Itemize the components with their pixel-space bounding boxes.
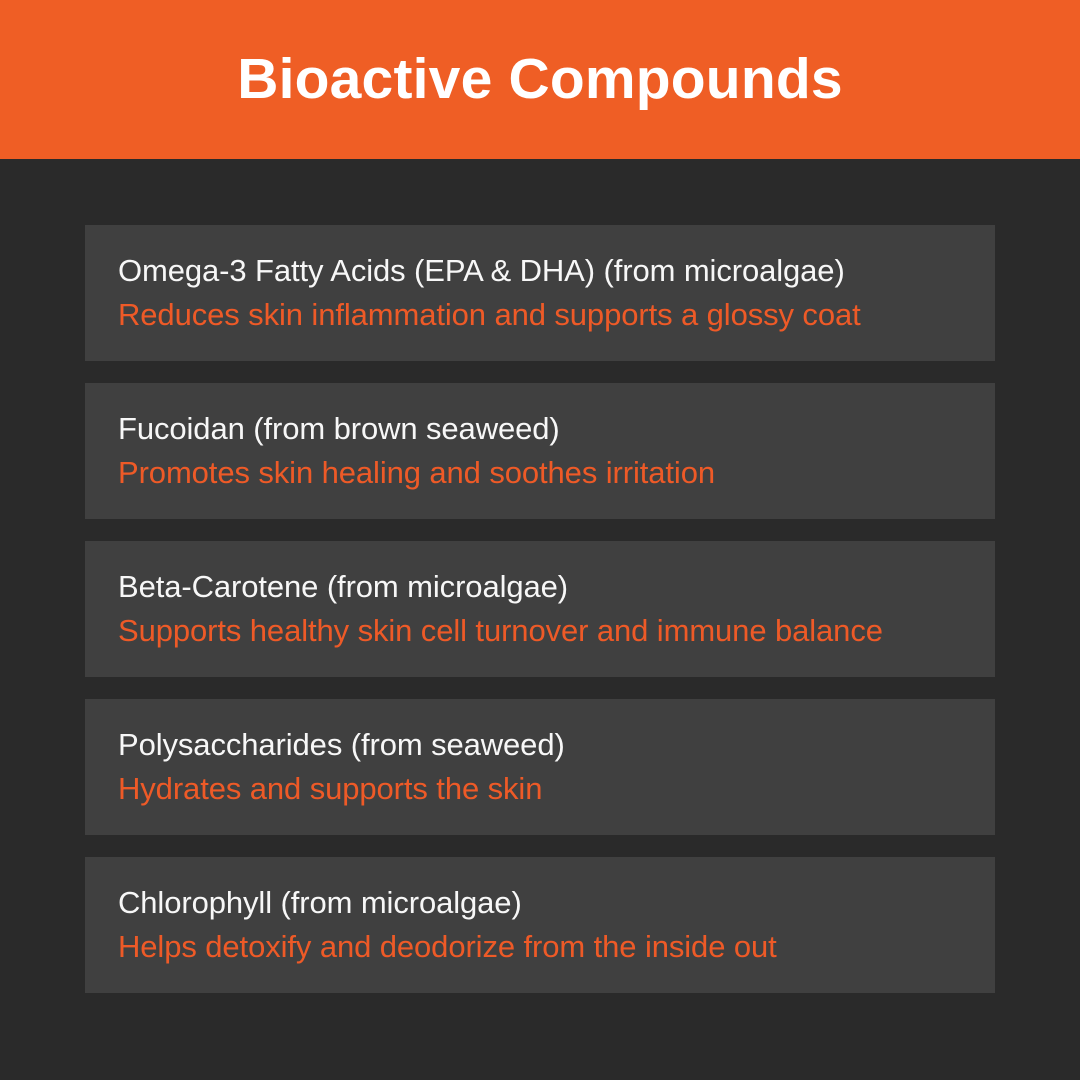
poster-root: Bioactive Compounds Omega-3 Fatty Acids …	[0, 0, 1080, 1080]
list-item: Polysaccharides (from seaweed) Hydrates …	[85, 699, 995, 835]
list-item: Chlorophyll (from microalgae) Helps deto…	[85, 857, 995, 993]
compound-list: Omega-3 Fatty Acids (EPA & DHA) (from mi…	[0, 159, 1080, 1080]
compound-benefit: Helps detoxify and deodorize from the in…	[118, 925, 963, 969]
compound-name: Chlorophyll (from microalgae)	[118, 881, 963, 925]
page-title: Bioactive Compounds	[237, 51, 843, 108]
compound-name: Omega-3 Fatty Acids (EPA & DHA) (from mi…	[118, 249, 963, 293]
list-item: Beta-Carotene (from microalgae) Supports…	[85, 541, 995, 677]
header-banner: Bioactive Compounds	[0, 0, 1080, 159]
compound-name: Beta-Carotene (from microalgae)	[118, 565, 963, 609]
list-item: Fucoidan (from brown seaweed) Promotes s…	[85, 383, 995, 519]
compound-name: Polysaccharides (from seaweed)	[118, 723, 963, 767]
compound-benefit: Supports healthy skin cell turnover and …	[118, 609, 963, 653]
compound-benefit: Hydrates and supports the skin	[118, 767, 963, 811]
compound-benefit: Reduces skin inflammation and supports a…	[118, 293, 963, 337]
compound-benefit: Promotes skin healing and soothes irrita…	[118, 451, 963, 495]
compound-name: Fucoidan (from brown seaweed)	[118, 407, 963, 451]
list-item: Omega-3 Fatty Acids (EPA & DHA) (from mi…	[85, 225, 995, 361]
